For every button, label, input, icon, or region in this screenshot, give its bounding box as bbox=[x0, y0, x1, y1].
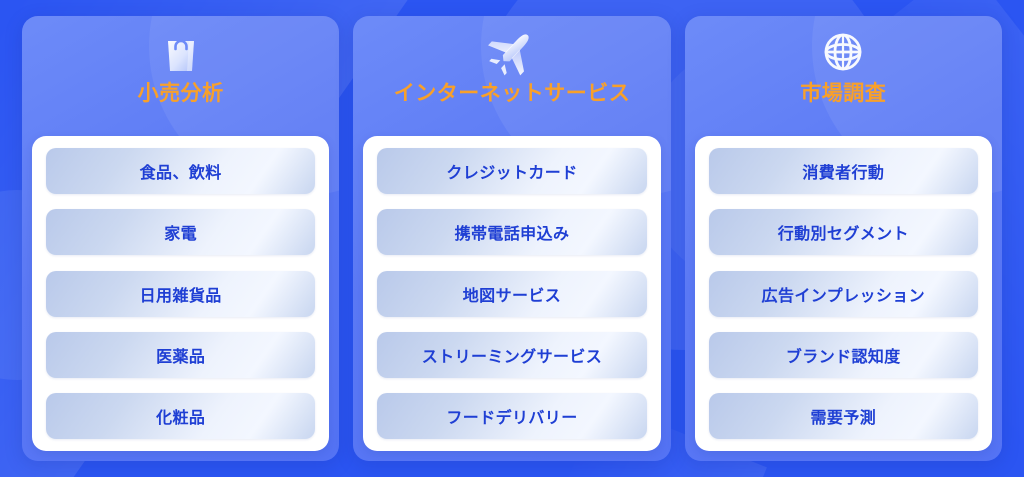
card-item-list: 食品、飲料 家電 日用雑貨品 医薬品 化粧品 bbox=[32, 136, 329, 451]
globe-icon bbox=[815, 24, 871, 80]
list-item[interactable]: クレジットカード bbox=[377, 148, 646, 194]
category-card-row: 小売分析 食品、飲料 家電 日用雑貨品 医薬品 化粧品 bbox=[0, 0, 1024, 477]
category-card-market-research[interactable]: 市場調査 消費者行動 行動別セグメント 広告インプレッション ブランド認知度 需… bbox=[685, 16, 1002, 461]
list-item[interactable]: 携帯電話申込み bbox=[377, 209, 646, 255]
card-header: インターネットサービス bbox=[353, 16, 670, 136]
list-item[interactable]: 消費者行動 bbox=[709, 148, 978, 194]
card-title: 小売分析 bbox=[138, 82, 224, 105]
list-item[interactable]: 地図サービス bbox=[377, 271, 646, 317]
page-stage: 小売分析 食品、飲料 家電 日用雑貨品 医薬品 化粧品 bbox=[0, 0, 1024, 477]
list-item[interactable]: 需要予測 bbox=[709, 393, 978, 439]
list-item[interactable]: 医薬品 bbox=[46, 332, 315, 378]
list-item[interactable]: 広告インプレッション bbox=[709, 271, 978, 317]
card-title: インターネットサービス bbox=[394, 82, 631, 105]
list-item[interactable]: 化粧品 bbox=[46, 393, 315, 439]
list-item[interactable]: フードデリバリー bbox=[377, 393, 646, 439]
card-item-list: クレジットカード 携帯電話申込み 地図サービス ストリーミングサービス フードデ… bbox=[363, 136, 660, 451]
category-card-internet-service[interactable]: インターネットサービス クレジットカード 携帯電話申込み 地図サービス ストリー… bbox=[353, 16, 670, 461]
list-item[interactable]: ストリーミングサービス bbox=[377, 332, 646, 378]
category-card-retail[interactable]: 小売分析 食品、飲料 家電 日用雑貨品 医薬品 化粧品 bbox=[22, 16, 339, 461]
shopping-bag-icon bbox=[153, 24, 209, 80]
list-item[interactable]: 家電 bbox=[46, 209, 315, 255]
list-item[interactable]: 行動別セグメント bbox=[709, 209, 978, 255]
list-item[interactable]: 食品、飲料 bbox=[46, 148, 315, 194]
card-item-list: 消費者行動 行動別セグメント 広告インプレッション ブランド認知度 需要予測 bbox=[695, 136, 992, 451]
list-item[interactable]: 日用雑貨品 bbox=[46, 271, 315, 317]
list-item[interactable]: ブランド認知度 bbox=[709, 332, 978, 378]
airplane-icon bbox=[484, 24, 540, 80]
card-title: 市場調査 bbox=[800, 82, 886, 105]
card-header: 小売分析 bbox=[22, 16, 339, 136]
card-header: 市場調査 bbox=[685, 16, 1002, 136]
